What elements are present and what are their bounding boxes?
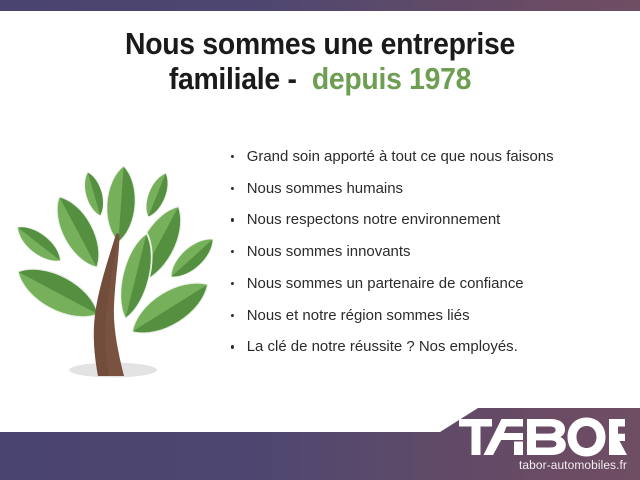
list-item-label: Nous sommes innovants	[247, 243, 411, 260]
list-item-label: La clé de notre réussite ? Nos employés.	[247, 338, 518, 355]
bullet-dot-icon	[231, 218, 234, 221]
bullet-dot-icon	[231, 187, 234, 190]
bullet-dot-icon	[231, 345, 234, 348]
list-item: Nous sommes humains	[228, 180, 622, 198]
page-title: Nous sommes une entreprise familiale - d…	[0, 27, 640, 97]
bullet-dot-icon	[231, 314, 234, 317]
list-item: Grand soin apporté à tout ce que nous fa…	[228, 148, 622, 166]
logo-url-label: tabor-automobiles.fr	[464, 458, 627, 472]
headline-line-1: Nous sommes une entreprise	[22, 27, 617, 62]
list-item: Nous sommes un partenaire de confiance	[228, 275, 622, 293]
list-item-label: Nous respectons notre environnement	[247, 211, 501, 228]
list-item-label: Grand soin apporté à tout ce que nous fa…	[247, 148, 554, 165]
list-item: Nous et notre région sommes liés	[228, 307, 622, 325]
bullet-dot-icon	[231, 155, 234, 158]
tabor-wordmark-icon	[459, 417, 627, 457]
list-item-label: Nous sommes humains	[247, 180, 403, 197]
bullet-dot-icon	[231, 282, 234, 285]
list-item: Nous respectons notre environnement	[228, 211, 622, 229]
list-item-label: Nous sommes un partenaire de confiance	[247, 275, 524, 292]
brand-logo[interactable]: tabor-automobiles.fr	[459, 417, 627, 472]
headline-dash: -	[287, 62, 296, 96]
list-item: La clé de notre réussite ? Nos employés.	[228, 338, 622, 356]
bullet-dot-icon	[231, 250, 234, 253]
headline-line-2: familiale - depuis 1978	[22, 62, 617, 97]
list-item: Nous sommes innovants	[228, 243, 622, 261]
top-accent-bar	[0, 0, 640, 11]
family-tree-illustration	[12, 148, 222, 393]
headline-since-year: depuis 1978	[312, 62, 471, 96]
headline-familiale: familiale	[169, 62, 280, 96]
values-list: Grand soin apporté à tout ce que nous fa…	[228, 148, 628, 357]
list-item-label: Nous et notre région sommes liés	[247, 307, 470, 324]
